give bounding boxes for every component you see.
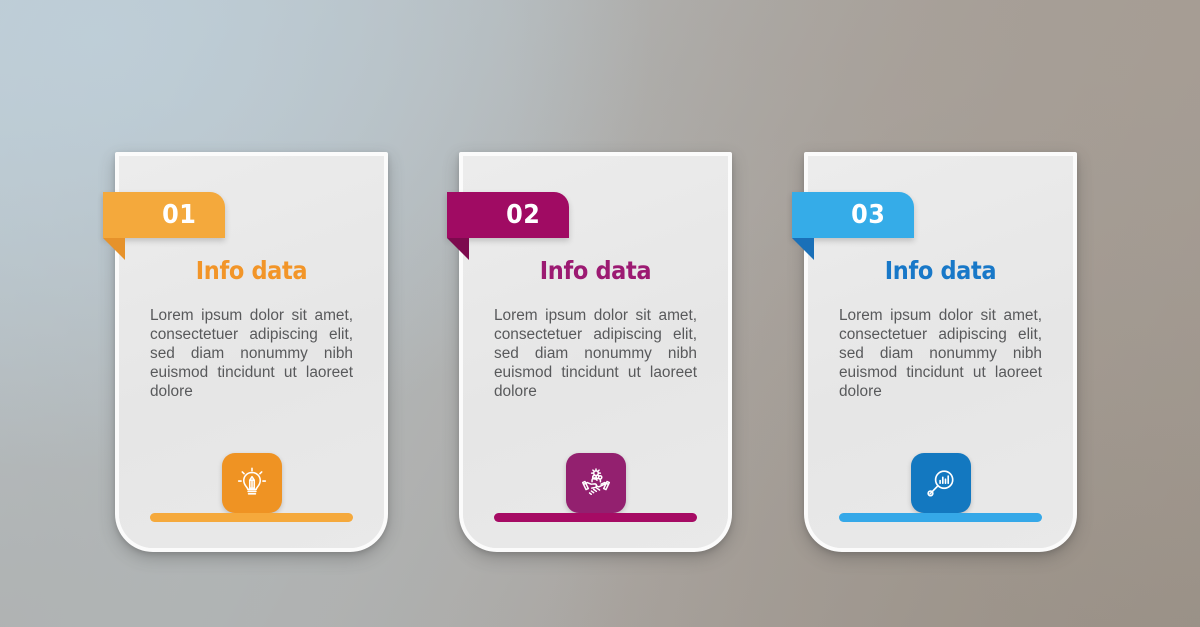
ribbon-fold: [103, 238, 125, 260]
card-accent-bar: [494, 513, 697, 522]
infographic-canvas: Info data Lorem ipsum dolor sit amet, co…: [0, 0, 1200, 627]
ribbon-fold: [792, 238, 814, 260]
magnifier-bar-chart-icon-tile[interactable]: [911, 453, 971, 513]
card-accent-bar: [150, 513, 353, 522]
ribbon-body: 02: [447, 192, 569, 238]
ribbon-number: 03: [820, 202, 885, 228]
ribbon-fold: [447, 238, 469, 260]
magnifier-bar-chart-icon: [923, 465, 959, 501]
card-body-text: Lorem ipsum dolor sit amet, consectetuer…: [150, 306, 353, 401]
ribbon-02[interactable]: 02: [447, 192, 569, 238]
ribbon-03[interactable]: 03: [792, 192, 914, 238]
card-group: Info data Lorem ipsum dolor sit amet, co…: [0, 0, 1200, 627]
handshake-teamwork-icon-tile[interactable]: [566, 453, 626, 513]
card-body-text: Lorem ipsum dolor sit amet, consectetuer…: [494, 306, 697, 401]
lightbulb-pencil-icon: [234, 465, 270, 501]
card-title: Info data: [476, 258, 715, 283]
handshake-teamwork-icon: [577, 464, 615, 502]
card-title: Info data: [132, 258, 371, 283]
card-accent-bar: [839, 513, 1042, 522]
ribbon-body: 03: [792, 192, 914, 238]
card-body-text: Lorem ipsum dolor sit amet, consectetuer…: [839, 306, 1042, 401]
ribbon-number: 01: [131, 202, 196, 228]
ribbon-body: 01: [103, 192, 225, 238]
lightbulb-pencil-icon-tile[interactable]: [222, 453, 282, 513]
ribbon-number: 02: [475, 202, 540, 228]
card-title: Info data: [821, 258, 1060, 283]
ribbon-01[interactable]: 01: [103, 192, 225, 238]
